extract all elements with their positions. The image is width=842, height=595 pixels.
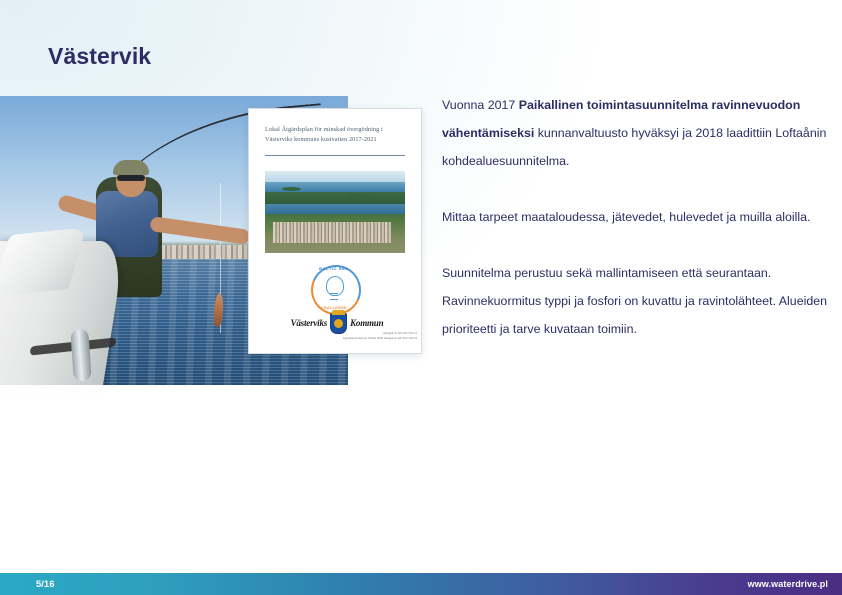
- footer-bar: 5/16 www.waterdrive.pl: [0, 573, 842, 595]
- paragraph-1-part-1: Vuonna 2017: [442, 98, 519, 112]
- page-title: Västervik: [48, 43, 151, 70]
- document-cover-photo: [265, 171, 405, 253]
- paragraph-1: Vuonna 2017 Paikallinen toimintasuunnite…: [442, 91, 834, 175]
- footer-website: www.waterdrive.pl: [748, 579, 828, 589]
- fine-print-line-2: Uppdaterad med ny Vision 2030 antagen av…: [323, 336, 417, 341]
- paragraph-3: Suunnitelma perustuu sekä mallintamiseen…: [442, 259, 834, 343]
- kommun-word-left: Västerviks: [291, 318, 328, 328]
- angler-cap: [113, 160, 149, 175]
- document-cover-card: Lokal Åtgärdsplan för minskad övergödnin…: [248, 108, 422, 354]
- document-title: Lokal Åtgärdsplan för minskad övergödnin…: [265, 125, 401, 144]
- body-text-block: Vuonna 2017 Paikallinen toimintasuunnite…: [442, 91, 834, 343]
- page-number: 5/16: [36, 579, 55, 590]
- lightbulb-base-icon: [330, 293, 338, 300]
- crest-emblem: [334, 319, 343, 328]
- doc-photo-town: [273, 222, 391, 243]
- boat-chrome-trim: [70, 328, 92, 381]
- document-fine-print: Antagen av KS 2017-05-12 Uppdaterad med …: [323, 331, 417, 342]
- doc-photo-far-land: [265, 192, 405, 205]
- doc-photo-island: [346, 194, 371, 199]
- document-title-rule: [265, 155, 405, 156]
- paragraph-spacer: [442, 231, 834, 259]
- crest-crown: [332, 310, 345, 315]
- baltic-sea-challenge-badge: BALTIC SEA CHALLENGE: [311, 265, 357, 311]
- badge-top-text: BALTIC SEA: [311, 266, 357, 271]
- paragraph-2: Mittaa tarpeet maataloudessa, jätevedet,…: [442, 203, 834, 231]
- slide: Västervik Lokal Åtgärdsplan för minskad …: [0, 0, 842, 595]
- kommun-word-right: Kommun: [350, 318, 383, 328]
- paragraph-spacer: [442, 175, 834, 203]
- angler-sunglasses: [117, 175, 145, 181]
